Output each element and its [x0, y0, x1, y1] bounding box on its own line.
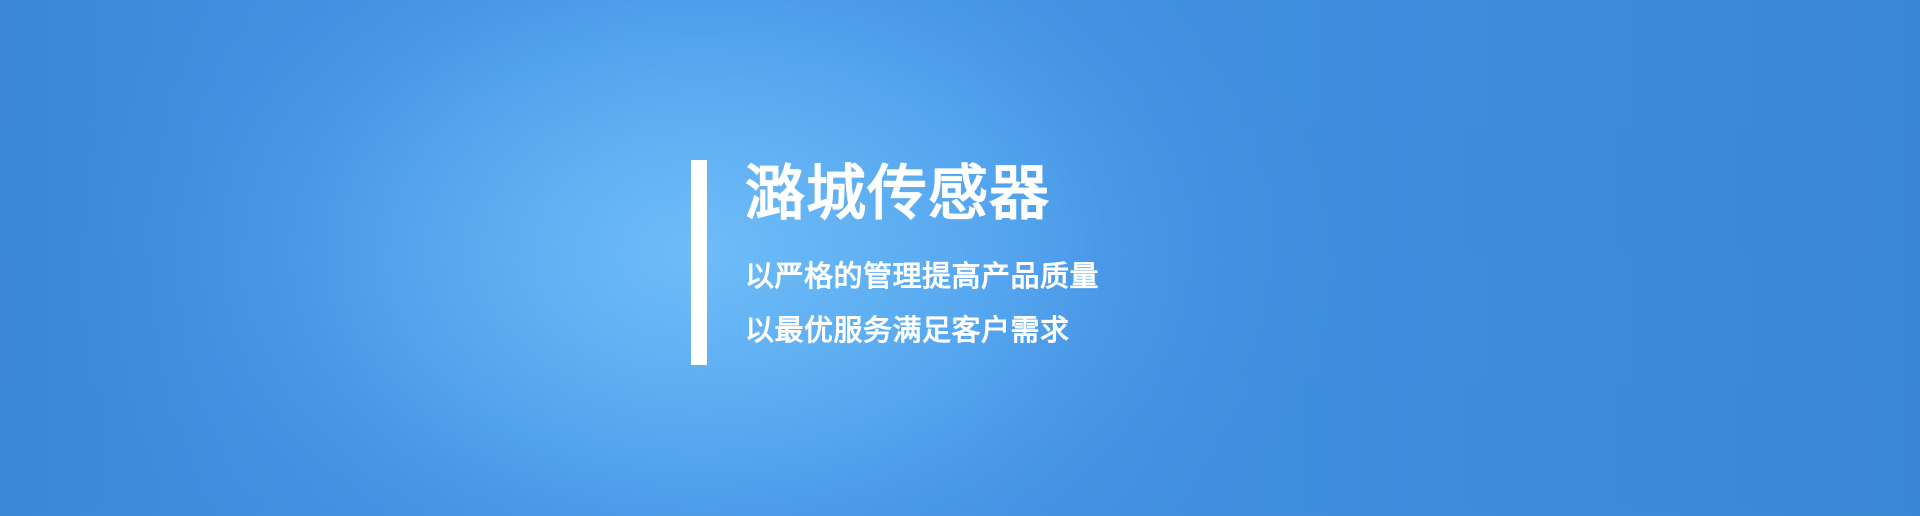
hero-text-block: 潞城传感器 以严格的管理提高产品质量 以最优服务满足客户需求	[745, 160, 1099, 365]
vertical-accent-bar	[691, 160, 707, 365]
company-title: 潞城传感器	[745, 162, 1099, 226]
slogan-line-1: 以严格的管理提高产品质量	[745, 260, 1099, 294]
hero-content: 潞城传感器 以严格的管理提高产品质量 以最优服务满足客户需求	[691, 160, 1099, 365]
hero-banner: 潞城传感器 以严格的管理提高产品质量 以最优服务满足客户需求	[0, 0, 1920, 516]
slogan-line-2: 以最优服务满足客户需求	[745, 314, 1099, 348]
